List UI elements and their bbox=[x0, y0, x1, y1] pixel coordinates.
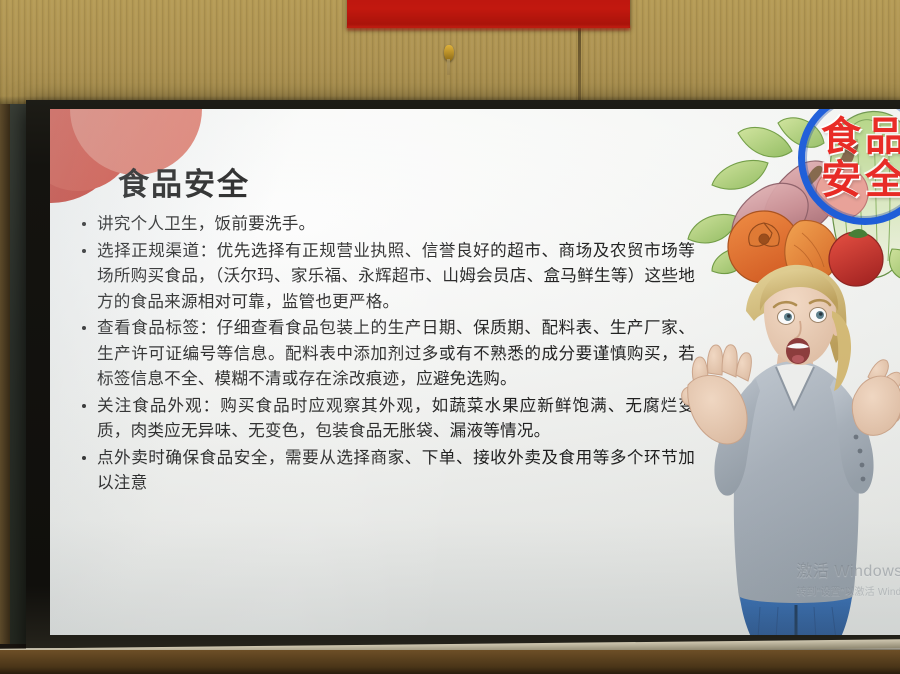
windows-activation-watermark: 激活 Windows 转到“设置”以激活 Windows。 bbox=[796, 557, 900, 598]
badge-text: 食品 安全 bbox=[798, 109, 900, 225]
list-item: 讲究个人卫生，饭前要洗手。 bbox=[75, 211, 695, 237]
presentation-slide[interactable]: 食品安全 bbox=[50, 109, 900, 635]
badge-line-1: 食品 bbox=[821, 116, 900, 158]
page-title: 食品安全 bbox=[118, 159, 250, 204]
red-banner bbox=[347, 0, 630, 28]
list-item: 查看食品标签：仔细查看食品包装上的生产日期、保质期、配料表、生产厂家、生产许可证… bbox=[75, 315, 695, 392]
badge-line-2: 安全 bbox=[821, 159, 900, 201]
food-safety-badge: 食品 安全 bbox=[798, 109, 900, 243]
seewo-display: 食品安全 bbox=[26, 100, 900, 652]
photo-scene: 食品安全 bbox=[0, 0, 900, 674]
list-item: 点外卖时确保食品安全，需要从选择商家、下单、接收外卖及食用等多个环节加以注意 bbox=[75, 445, 695, 496]
desk-surface bbox=[0, 650, 900, 674]
display-screen[interactable]: 食品安全 bbox=[50, 109, 900, 635]
watermark-title: 激活 Windows bbox=[796, 557, 900, 581]
wall-hook-icon bbox=[444, 45, 454, 61]
blackboard-frame bbox=[0, 104, 10, 644]
bullet-list: 讲究个人卫生，饭前要洗手。 选择正规渠道：优先选择有正规营业执照、信誉良好的超市… bbox=[75, 211, 695, 497]
list-item: 选择正规渠道：优先选择有正规营业执照、信誉良好的超市、商场及农贸市场等场所购买食… bbox=[75, 238, 695, 315]
watermark-subtitle: 转到“设置”以激活 Windows。 bbox=[796, 583, 900, 598]
list-item: 关注食品外观：购买食品时应观察其外观，如蔬菜水果应新鲜饱满、无腐烂变质，肉类应无… bbox=[75, 393, 695, 444]
